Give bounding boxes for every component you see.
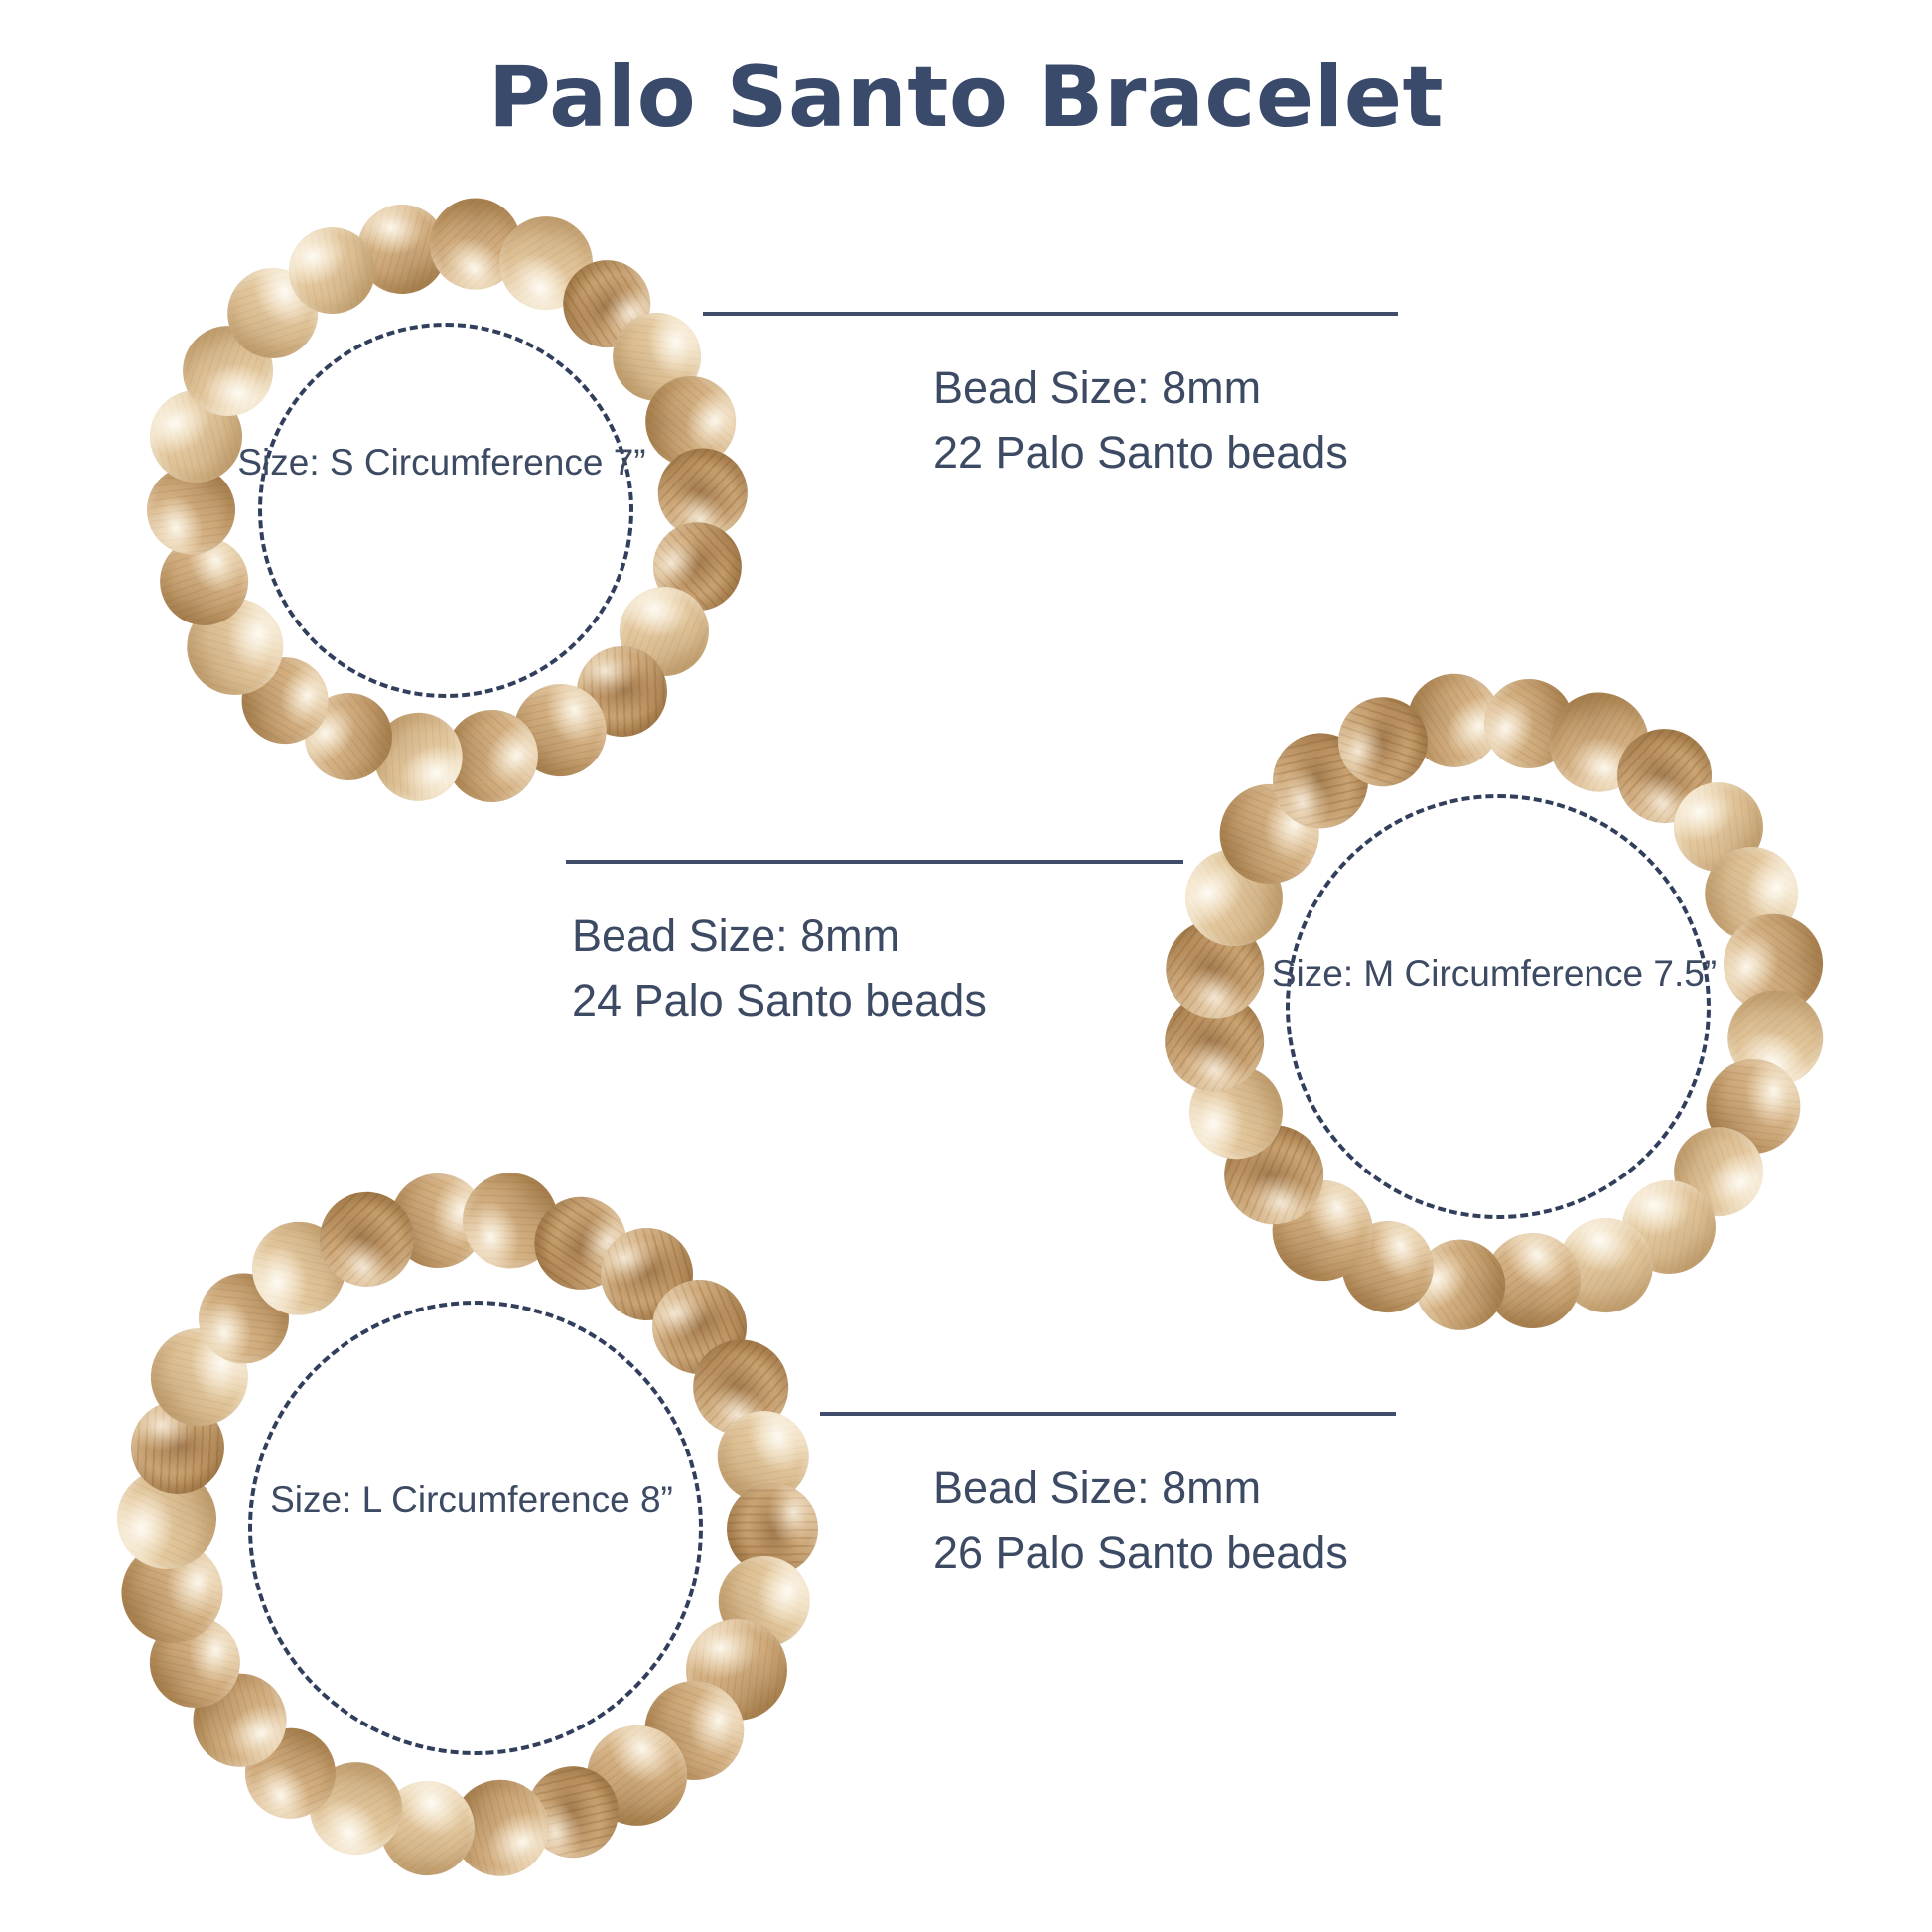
circumference-line-small: Circumference 7”	[364, 442, 646, 483]
bead-size-line-small: Bead Size: 8mm	[933, 355, 1348, 420]
page-title: Palo Santo Bracelet	[0, 48, 1932, 147]
size-label-medium: Size: M Circumference 7.5”	[1266, 948, 1723, 1001]
size-code-line-large: Size: L	[270, 1479, 381, 1520]
circumference-line-large: Circumference 8”	[391, 1479, 673, 1520]
size-code-line-medium: Size: M	[1272, 953, 1394, 994]
size-label-large: Size: L Circumference 8”	[243, 1474, 700, 1527]
circumference-line-medium: Circumference 7.5”	[1405, 953, 1718, 994]
infographic-canvas: Palo Santo Bracelet Size: S Circumferenc…	[0, 0, 1932, 1932]
bracelet-medium: Size: M Circumference 7.5”	[1147, 655, 1842, 1350]
bead-size-line-medium: Bead Size: 8mm	[572, 903, 987, 968]
bead-size-line-large: Bead Size: 8mm	[933, 1455, 1348, 1520]
bracelet-small: Size: S Circumference 7”	[119, 194, 774, 809]
size-code-line-small: Size: S	[237, 442, 353, 483]
callout-small: Bead Size: 8mm 22 Palo Santo beads	[933, 355, 1348, 485]
bead-count-line-medium: 24 Palo Santo beads	[572, 968, 987, 1033]
callout-large: Bead Size: 8mm 26 Palo Santo beads	[933, 1455, 1348, 1586]
bracelet-large: Size: L Circumference 8”	[94, 1147, 844, 1901]
leader-line-large	[820, 1412, 1396, 1416]
inner-circumference-circle-large	[248, 1301, 703, 1755]
bead-count-line-small: 22 Palo Santo beads	[933, 420, 1348, 484]
bead-count-line-large: 26 Palo Santo beads	[933, 1520, 1348, 1585]
callout-medium: Bead Size: 8mm 24 Palo Santo beads	[572, 903, 987, 1034]
inner-circumference-circle-medium	[1286, 794, 1711, 1219]
size-label-small: Size: S Circumference 7”	[223, 437, 660, 489]
leader-line-medium	[566, 860, 1183, 864]
leader-line-small	[703, 312, 1398, 316]
inner-circumference-circle-small	[258, 323, 633, 698]
